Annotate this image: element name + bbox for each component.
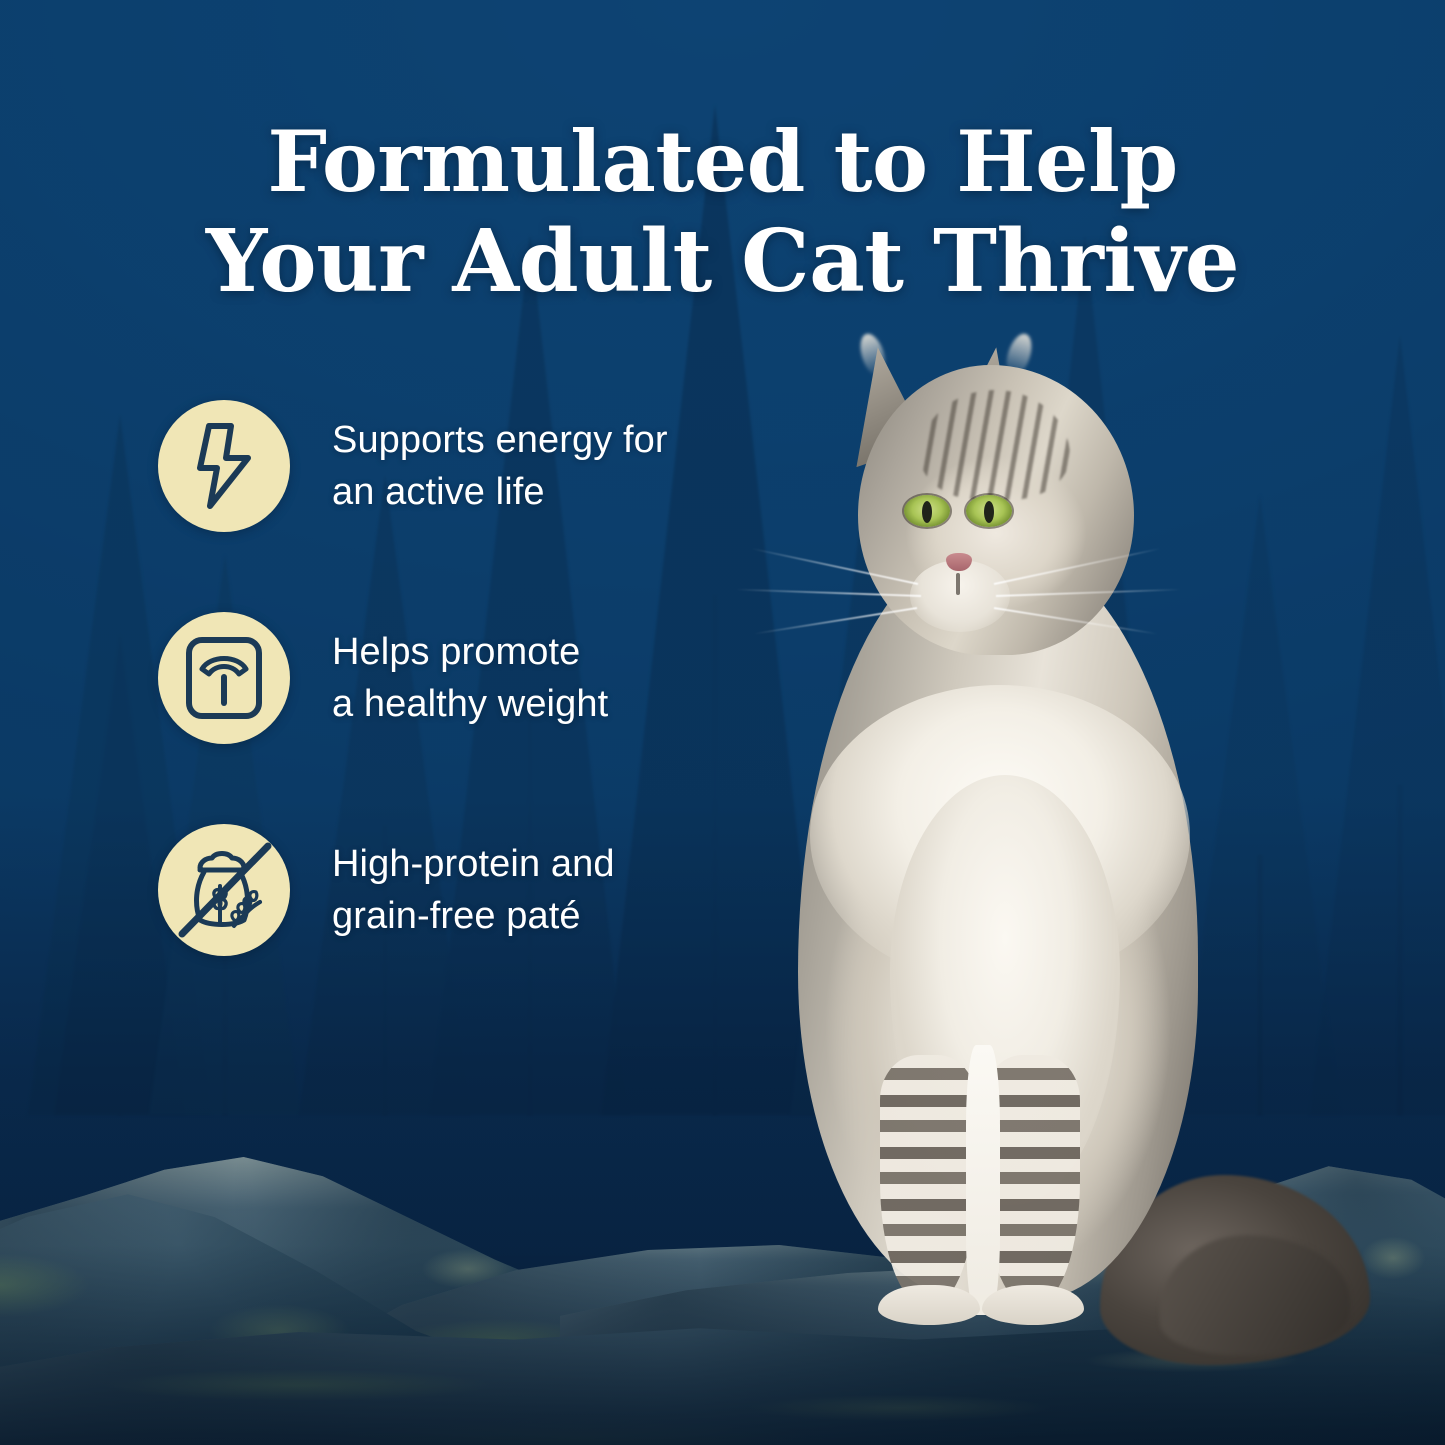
benefit-text-grain-free: High-protein and grain-free paté [332,838,615,942]
cat-front-leg-left [880,1055,976,1305]
cat-leg-divider-fur [966,1045,1000,1315]
benefit-item-weight: Helps promote a healthy weight [158,612,778,744]
product-benefits-poster: Formulated to Help Your Adult Cat Thrive… [0,0,1445,1445]
cat-pupil-right [984,501,994,523]
cat-mouth [956,573,960,595]
benefit-badge-weight [158,612,290,744]
benefit-text-weight: Helps promote a healthy weight [332,626,608,730]
no-grain-icon [172,838,276,942]
headline-line-1: Formulated to Help [267,112,1177,211]
benefit-item-grain-free: High-protein and grain-free paté [158,824,778,956]
page-headline: Formulated to Help Your Adult Cat Thrive [0,112,1445,312]
weight-scale-icon [184,635,264,721]
benefit-text-energy: Supports energy for an active life [332,414,668,518]
cat-pupil-left [922,501,932,523]
benefits-list: Supports energy for an active life Helps… [158,400,778,1036]
cat-paw-right [982,1285,1084,1325]
lightning-bolt-icon [186,422,262,510]
maine-coon-cat-photo [770,355,1330,1445]
cat-paw-left [878,1285,980,1325]
benefit-item-energy: Supports energy for an active life [158,400,778,532]
benefit-badge-grain-free [158,824,290,956]
benefit-badge-energy [158,400,290,532]
headline-line-2: Your Adult Cat Thrive [0,212,1445,312]
